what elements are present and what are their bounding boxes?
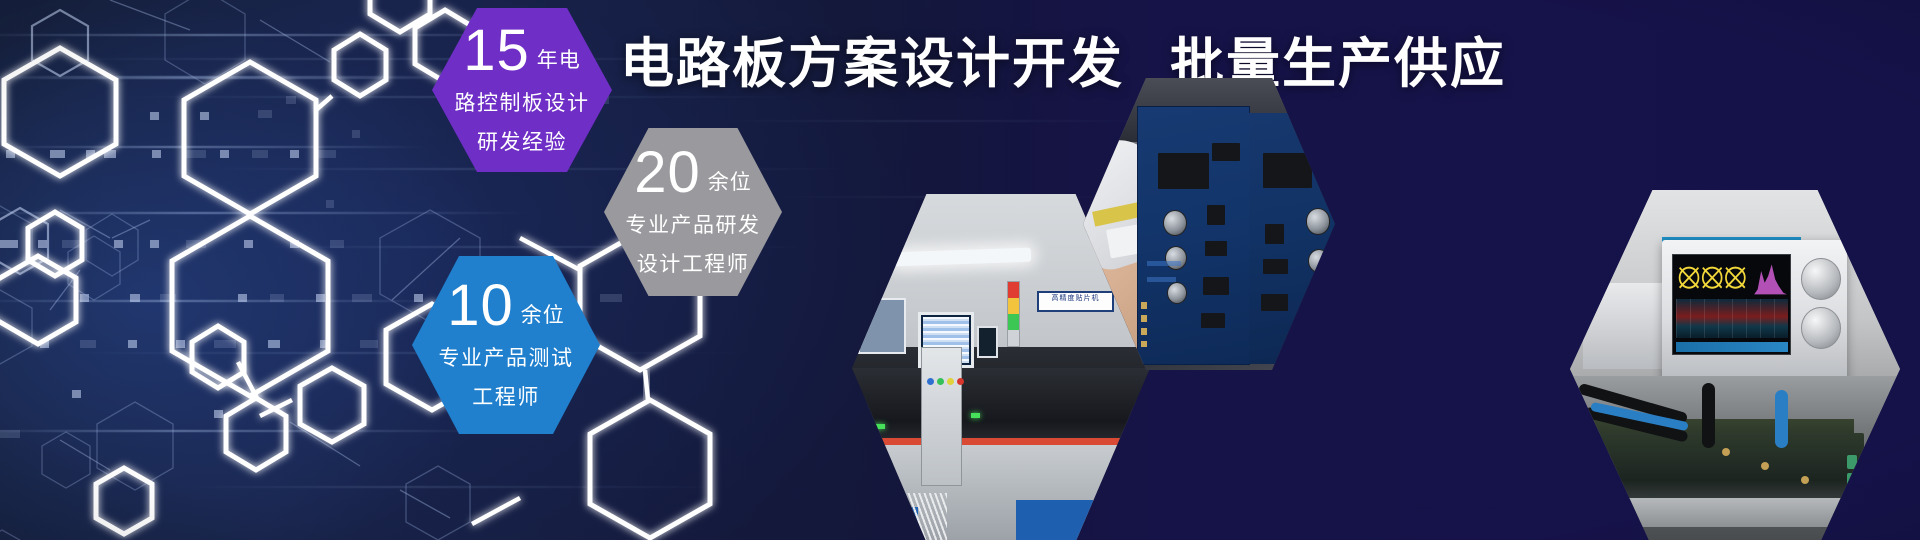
stat-row-primary: 15 年电 bbox=[463, 24, 581, 77]
stat-number: 15 bbox=[463, 24, 530, 77]
stat-row-primary: 10 余位 bbox=[447, 279, 565, 332]
stat-line-2: 路控制板设计 bbox=[455, 87, 590, 117]
stat-number: 10 bbox=[447, 279, 514, 332]
stat-line-3: 设计工程师 bbox=[637, 248, 750, 278]
stat-unit: 年电 bbox=[537, 50, 581, 71]
stat-unit: 余位 bbox=[708, 172, 752, 193]
headline-part-1: 电路板方案设计开发 bbox=[620, 19, 1124, 98]
stat-line-3: 研发经验 bbox=[477, 126, 567, 156]
stat-number: 20 bbox=[634, 146, 701, 199]
machine-label: 高精度贴片机 bbox=[1037, 291, 1114, 312]
promo-banner: 电路板方案设计开发 批量生产供应 15 年电 路控制板设计 研发经验 20 余位… bbox=[0, 0, 1920, 540]
stat-row-primary: 20 余位 bbox=[634, 146, 752, 199]
stat-line-2: 专业产品测试 bbox=[439, 342, 574, 372]
machine-label-text: 高精度贴片机 bbox=[1039, 293, 1112, 304]
stat-unit: 余位 bbox=[521, 305, 565, 326]
stat-line-2: 专业产品研发 bbox=[626, 209, 761, 239]
page-title: 电路板方案设计开发 批量生产供应 bbox=[620, 19, 1506, 98]
stat-line-3: 工程师 bbox=[472, 381, 540, 411]
